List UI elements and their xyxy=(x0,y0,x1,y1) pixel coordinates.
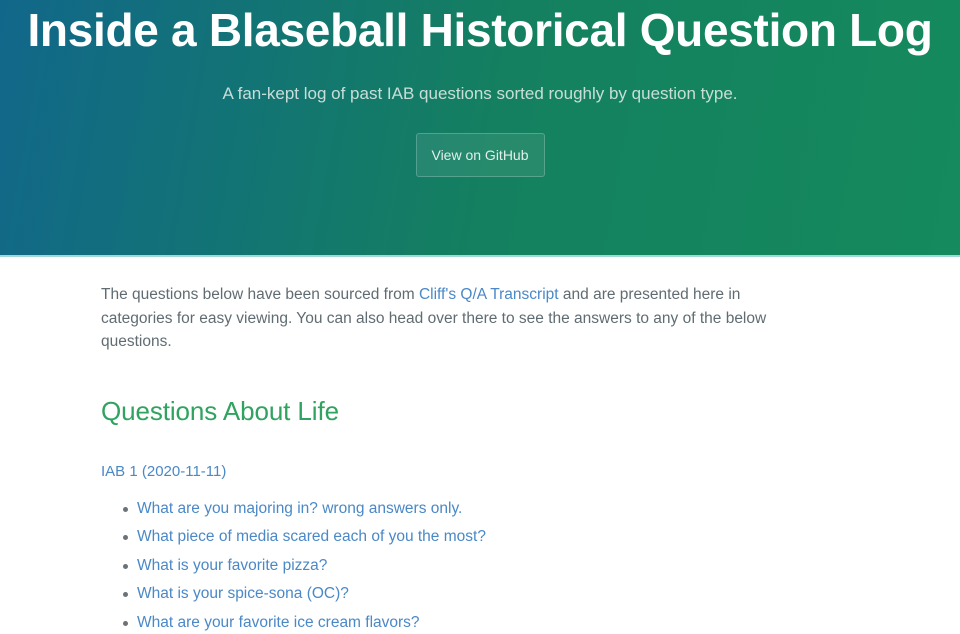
list-item: What piece of media scared each of you t… xyxy=(137,526,860,548)
group-heading-iab-1: IAB 1 (2020-11-11) xyxy=(101,463,860,481)
page-header: Inside a Blaseball Historical Question L… xyxy=(0,0,960,257)
question-link[interactable]: What are your favorite ice cream flavors… xyxy=(137,614,420,631)
header-actions: View on GitHub xyxy=(0,133,960,177)
page-tagline: A fan-kept log of past IAB questions sor… xyxy=(0,82,960,106)
view-on-github-button[interactable]: View on GitHub xyxy=(416,133,545,177)
section-heading-questions-about-life: Questions About Life xyxy=(101,396,860,427)
cliffs-qa-transcript-link[interactable]: Cliff's Q/A Transcript xyxy=(419,286,559,303)
main-content: The questions below have been sourced fr… xyxy=(0,257,960,634)
list-item: What are you majoring in? wrong answers … xyxy=(137,498,860,520)
list-item: What is your favorite pizza? xyxy=(137,555,860,577)
question-link[interactable]: What is your favorite pizza? xyxy=(137,557,327,574)
question-list-iab-1: What are you majoring in? wrong answers … xyxy=(101,498,860,634)
group-heading-link[interactable]: IAB 1 (2020-11-11) xyxy=(101,463,226,480)
intro-paragraph: The questions below have been sourced fr… xyxy=(101,283,791,354)
list-item: What is your spice-sona (OC)? xyxy=(137,583,860,605)
page-title: Inside a Blaseball Historical Question L… xyxy=(0,6,960,54)
question-link[interactable]: What is your spice-sona (OC)? xyxy=(137,585,349,602)
question-link[interactable]: What are you majoring in? wrong answers … xyxy=(137,500,462,517)
list-item: What are your favorite ice cream flavors… xyxy=(137,612,860,634)
question-link[interactable]: What piece of media scared each of you t… xyxy=(137,528,486,545)
intro-text-before-link: The questions below have been sourced fr… xyxy=(101,286,419,303)
